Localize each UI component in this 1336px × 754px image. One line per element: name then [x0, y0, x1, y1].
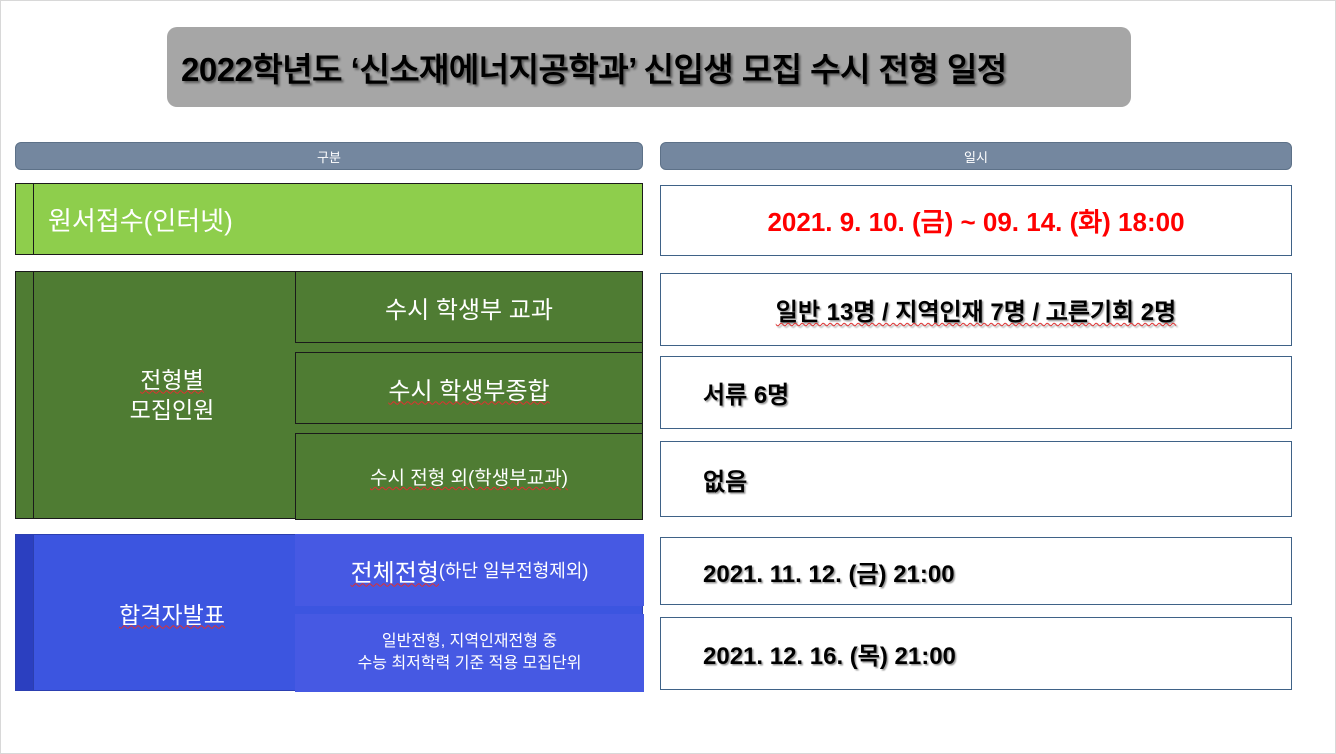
subrow-label-gyogwa-text: 수시 학생부 교과	[385, 290, 553, 325]
subrow-label-min-score-line1: 일반전형, 지역인재전형 중	[382, 633, 557, 650]
row-label-announcement-text: 합격자발표	[119, 596, 225, 630]
subrow-label-jonghap: 수시 학생부종합	[295, 352, 643, 424]
table-row-quota-label: 전형별 모집인원 수시 학생부 교과 수시 학생부종합 수시 전형 외(학생부교…	[15, 271, 643, 519]
subrow-label-all-types: 전체전형(하단 일부전형제외)	[295, 534, 644, 606]
row-label-quota-line2: 모집인원	[130, 395, 215, 425]
row-label-application: 원서접수(인터넷)	[48, 184, 233, 254]
subrow-label-other-text: 수시 전형 외(학생부교과)	[370, 463, 568, 490]
accent-strip	[16, 535, 34, 690]
table-cell-announcement-all-date: 2021. 11. 12. (금) 21:00	[660, 537, 1292, 605]
accent-strip	[16, 272, 34, 518]
quota-other-text: 없음	[703, 462, 747, 497]
presentation-slide: 2022학년도 ‘신소재에너지공학과’ 신입생 모집 수시 전형 일정 구분 일…	[0, 0, 1336, 754]
subrow-label-jonghap-text: 수시 학생부종합	[388, 371, 549, 406]
quota-jonghap-text: 서류 6명	[703, 375, 789, 410]
table-cell-quota-other: 없음	[660, 441, 1292, 517]
announcement-min-score-date-text: 2021. 12. 16. (목) 21:00	[703, 636, 956, 671]
row-label-quota: 전형별 모집인원	[35, 272, 309, 518]
row-label-announcement: 합격자발표	[35, 535, 309, 690]
application-date-text: 2021. 9. 10. (금) ~ 09. 14. (화) 18:00	[767, 202, 1184, 239]
subrow-label-all-types-main: 전체전형	[351, 553, 439, 588]
table-cell-announcement-min-score-date: 2021. 12. 16. (목) 21:00	[660, 617, 1292, 690]
table-cell-quota-gyogwa: 일반 13명 / 지역인재 7명 / 고른기회 2명	[660, 273, 1292, 346]
accent-strip	[16, 184, 34, 254]
subrow-label-all-types-note: (하단 일부전형제외)	[439, 557, 588, 583]
row-label-quota-line1: 전형별	[140, 365, 203, 395]
column-header-datetime-label: 일시	[964, 147, 988, 166]
column-header-category-label: 구분	[317, 147, 341, 166]
table-cell-quota-jonghap: 서류 6명	[660, 356, 1292, 429]
quota-gyogwa-text: 일반 13명 / 지역인재 7명 / 고른기회 2명	[776, 292, 1176, 327]
subrow-label-min-score: 일반전형, 지역인재전형 중 수능 최저학력 기준 적용 모집단위	[295, 614, 644, 692]
column-header-datetime: 일시	[660, 142, 1292, 170]
slide-title-bar: 2022학년도 ‘신소재에너지공학과’ 신입생 모집 수시 전형 일정	[167, 27, 1131, 107]
table-row-announcement-label: 합격자발표 전체전형(하단 일부전형제외) 일반전형, 지역인재전형 중 수능 …	[15, 534, 643, 691]
subrow-label-other: 수시 전형 외(학생부교과)	[295, 433, 643, 520]
table-cell-application-date: 2021. 9. 10. (금) ~ 09. 14. (화) 18:00	[660, 185, 1292, 256]
subrow-label-min-score-line2: 수능 최저학력 기준 적용 모집단위	[358, 655, 582, 672]
column-header-category: 구분	[15, 142, 643, 170]
table-row-application-label: 원서접수(인터넷)	[15, 183, 643, 255]
announcement-all-date-text: 2021. 11. 12. (금) 21:00	[703, 554, 955, 589]
subrow-label-gyogwa: 수시 학생부 교과	[295, 271, 643, 343]
page-title: 2022학년도 ‘신소재에너지공학과’ 신입생 모집 수시 전형 일정	[181, 43, 1101, 91]
